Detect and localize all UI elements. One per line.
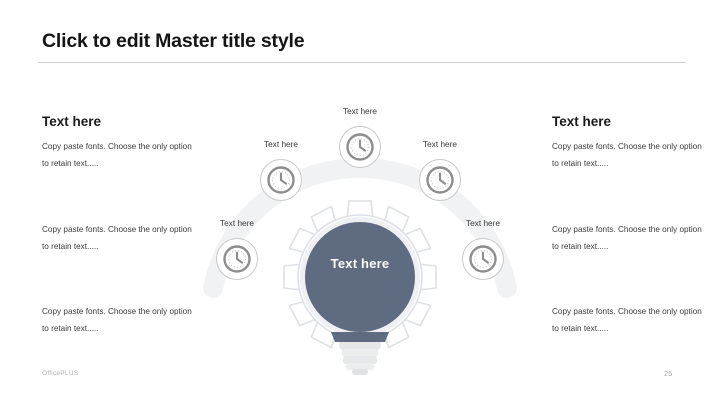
left-paragraph-1: Copy paste fonts. Choose the only option… (42, 139, 192, 173)
left-paragraph-3: Copy paste fonts. Choose the only option… (42, 304, 192, 338)
node-icon-upper-right[interactable] (420, 160, 461, 201)
right-text-block-2: Copy paste fonts. Choose the only option… (552, 222, 702, 256)
node-icon-upper-left[interactable] (261, 160, 302, 201)
left-text-block-2: Copy paste fonts. Choose the only option… (42, 222, 192, 256)
footer-brand: OfficePLUS (42, 370, 78, 377)
page-title: Click to edit Master title style (42, 30, 304, 53)
slide-canvas: Click to edit Master title style (0, 0, 720, 404)
right-paragraph-2: Copy paste fonts. Choose the only option… (552, 222, 702, 256)
right-paragraph-1: Copy paste fonts. Choose the only option… (552, 139, 702, 173)
right-paragraph-3: Copy paste fonts. Choose the only option… (552, 304, 702, 338)
left-paragraph-2: Copy paste fonts. Choose the only option… (42, 222, 192, 256)
node-icon-middle-left[interactable] (217, 239, 258, 280)
node-label-upper-left: Text here (250, 139, 312, 149)
node-label-middle-right: Text here (452, 218, 514, 228)
right-text-block-1: Text here Copy paste fonts. Choose the o… (552, 114, 702, 173)
lightbulb-gear-diagram (185, 92, 535, 377)
node-label-upper-right: Text here (409, 139, 471, 149)
page-number: 25 (664, 369, 672, 378)
left-column-heading: Text here (42, 114, 192, 129)
title-divider (38, 62, 686, 63)
right-text-block-3: Copy paste fonts. Choose the only option… (552, 304, 702, 338)
node-label-middle-left: Text here (206, 218, 268, 228)
bulb-center-label: Text here (310, 256, 410, 271)
left-text-block-1: Text here Copy paste fonts. Choose the o… (42, 114, 192, 173)
node-icon-top[interactable] (340, 127, 381, 168)
right-column-heading: Text here (552, 114, 702, 129)
left-text-block-3: Copy paste fonts. Choose the only option… (42, 304, 192, 338)
node-label-top: Text here (329, 106, 391, 116)
node-icon-middle-right[interactable] (463, 239, 504, 280)
